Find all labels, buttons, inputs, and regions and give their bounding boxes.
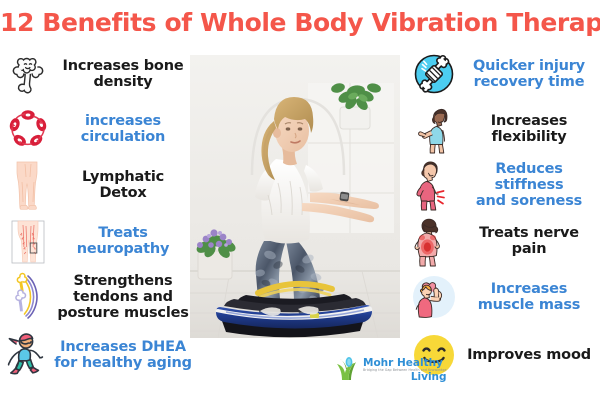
benefit-label: Treats neuropathy	[54, 225, 192, 257]
logo-wordmark: Mohr Healthy Bridging the Gap Between He…	[363, 353, 447, 383]
benefit-label: Strengthens tendons and posture muscles	[54, 273, 192, 322]
benefit-increases-muscle-mass: Increases muscle mass	[408, 271, 598, 323]
legs-neuropathy-icon	[2, 215, 54, 267]
benefit-increases-dhea: Increases DHEA for healthy aging	[2, 329, 192, 381]
benefit-label: Increases flexibility	[460, 113, 598, 145]
benefit-reduces-stiffness: Reduces stiffness and soreness	[408, 159, 598, 211]
nerve-pain-back-icon	[408, 215, 460, 267]
benefit-label: Improves mood	[460, 347, 598, 363]
left-benefits-column: Increases bone density	[2, 46, 192, 384]
flexing-bone-icon	[2, 48, 54, 100]
benefit-label: Quicker injury recovery time	[460, 58, 598, 90]
running-man-icon	[2, 329, 54, 381]
benefit-label: Lymphatic Detox	[54, 169, 192, 201]
benefit-treats-nerve-pain: Treats nerve pain	[408, 215, 598, 267]
tendon-bone-icon	[2, 271, 54, 323]
back-pain-woman-icon	[408, 159, 460, 211]
right-benefits-column: Quicker injury recovery time	[408, 46, 598, 384]
vibration-plate-exercise-photo	[190, 55, 400, 338]
benefit-strengthens-tendons: Strengthens tendons and posture muscles	[2, 271, 192, 323]
benefit-label: Increases muscle mass	[460, 281, 598, 313]
infographic-page: 12 Benefits of Whole Body Vibration Ther…	[0, 0, 600, 400]
benefit-lymphatic-detox: Lymphatic Detox	[2, 159, 192, 211]
bandaged-bone-icon	[408, 48, 460, 100]
legs-lymphatic-icon	[2, 159, 54, 211]
stretching-woman-icon	[408, 103, 460, 155]
benefit-increases-flexibility: Increases flexibility	[408, 103, 598, 155]
benefit-label: Increases DHEA for healthy aging	[54, 339, 192, 371]
benefit-label: increases circulation	[54, 113, 192, 145]
brand-logo: Mohr Healthy Bridging the Gap Between He…	[336, 348, 432, 388]
leaf-logo-icon	[336, 353, 362, 383]
benefit-increases-bone-density: Increases bone density	[2, 48, 192, 100]
benefit-label: Treats nerve pain	[460, 225, 598, 257]
benefit-increases-circulation: increases circulation	[2, 103, 192, 155]
page-title: 12 Benefits of Whole Body Vibration Ther…	[0, 8, 600, 37]
benefit-quicker-injury-recovery: Quicker injury recovery time	[408, 48, 598, 100]
benefit-label: Increases bone density	[54, 58, 192, 90]
benefit-label: Reduces stiffness and soreness	[460, 161, 598, 210]
benefit-treats-neuropathy: Treats neuropathy	[2, 215, 192, 267]
blood-circulation-icon	[2, 103, 54, 155]
flexing-woman-icon	[408, 271, 460, 323]
